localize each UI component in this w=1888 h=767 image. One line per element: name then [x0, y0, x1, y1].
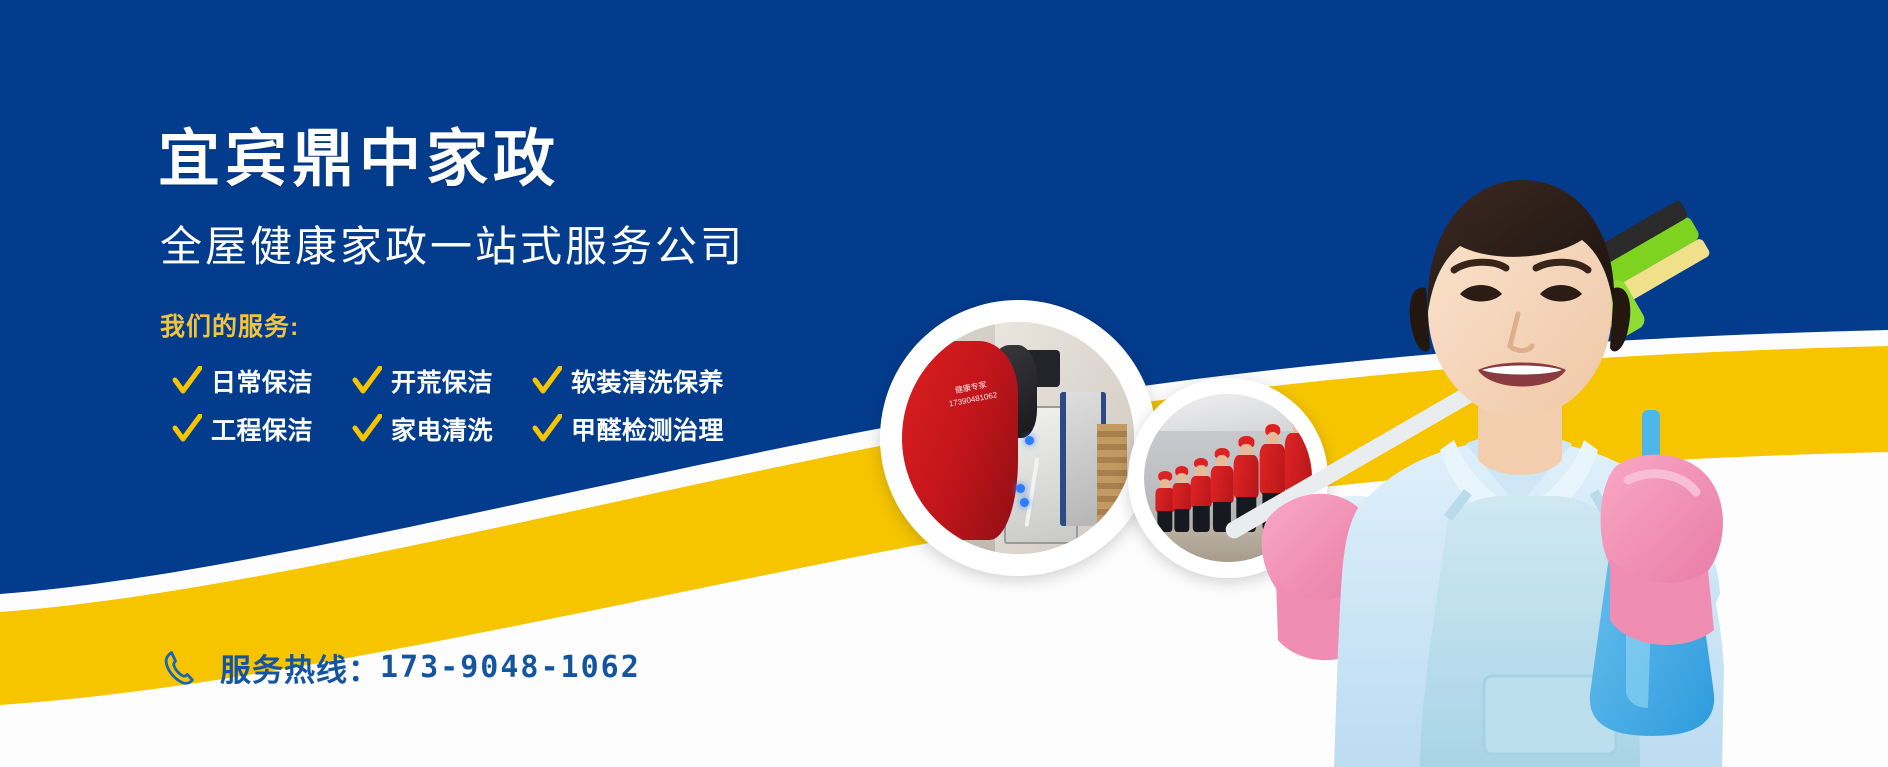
copy-block: 宜宾鼎中家政 全屋健康家政一站式服务公司 我们的服务: 日常保洁 开荒保洁 — [158, 128, 978, 453]
service-label: 日常保洁 — [211, 363, 313, 399]
service-label: 开荒保洁 — [391, 363, 493, 399]
check-icon — [532, 366, 562, 396]
check-icon — [532, 414, 562, 444]
check-icon — [352, 414, 382, 444]
check-icon — [352, 366, 382, 396]
service-label: 工程保洁 — [211, 411, 313, 447]
scene-wood — [1097, 424, 1127, 531]
service-item: 日常保洁 — [172, 363, 332, 399]
scene-led — [1025, 436, 1034, 445]
services-row: 工程保洁 家电清洗 甲醛检测治理 — [172, 405, 978, 453]
scene-red-vest — [902, 341, 1018, 541]
service-item: 开荒保洁 — [352, 363, 512, 399]
phone-handset-icon — [160, 647, 202, 689]
photo-technician-equipment: 健康专家 17390481062 — [880, 300, 1156, 576]
service-item: 软装清洗保养 — [532, 363, 724, 399]
service-label: 甲醛检测治理 — [571, 411, 724, 447]
head — [1410, 180, 1631, 475]
hotline-label: 服务热线： — [220, 645, 380, 690]
hotline-number[interactable]: 173-9048-1062 — [380, 650, 641, 685]
photo-scene: 健康专家 17390481062 — [902, 322, 1134, 554]
services-row: 日常保洁 开荒保洁 软装清洗保养 — [172, 357, 978, 405]
service-label: 软装清洗保养 — [571, 363, 724, 399]
services-list: 日常保洁 开荒保洁 软装清洗保养 — [158, 357, 978, 453]
service-label: 家电清洗 — [391, 411, 493, 447]
hotline[interactable]: 服务热线： 173-9048-1062 — [160, 645, 641, 690]
services-label: 我们的服务: — [160, 307, 978, 343]
promo-banner: 宜宾鼎中家政 全屋健康家政一站式服务公司 我们的服务: 日常保洁 开荒保洁 — [0, 0, 1888, 767]
cleaning-staff-model — [1148, 88, 1888, 767]
subtitle: 全屋健康家政一站式服务公司 — [160, 225, 978, 269]
service-item: 甲醛检测治理 — [532, 411, 724, 447]
service-item: 工程保洁 — [172, 411, 332, 447]
check-icon — [172, 366, 202, 396]
page-title: 宜宾鼎中家政 — [158, 128, 978, 191]
right-glove — [1601, 455, 1723, 645]
service-item: 家电清洗 — [352, 411, 512, 447]
check-icon — [172, 414, 202, 444]
photo-inner: 健康专家 17390481062 — [902, 322, 1134, 554]
